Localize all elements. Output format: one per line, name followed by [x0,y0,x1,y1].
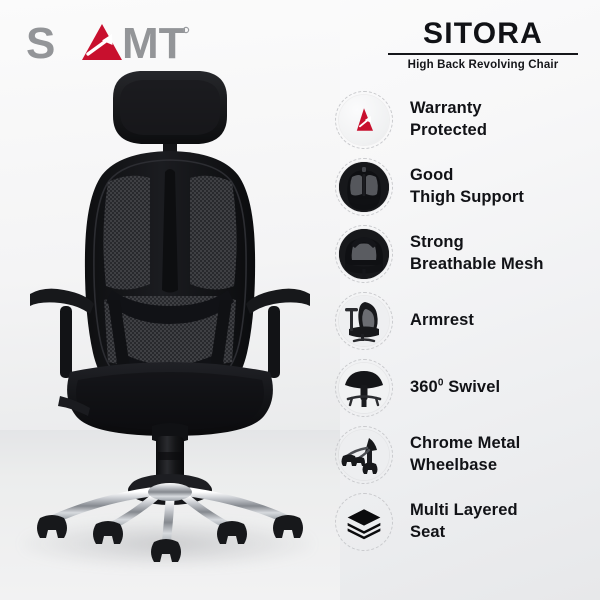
feature-label-line1: Multi Layered [410,501,518,519]
feature-label: Multi Layered Seat [410,500,518,542]
feature-icon-slot [334,90,394,150]
brand-logo: S MT [26,20,196,68]
feature-label-line1: 360 [410,378,438,396]
infographic-canvas: S MT SITORA High Back Revolving Chair [0,0,600,600]
feature-label-line1: Strong [410,233,464,251]
chair-back-front-icon [339,162,389,212]
feature-icon-slot [334,291,394,351]
svg-text:MT: MT [122,20,186,68]
feature-label: Strong Breathable Mesh [410,232,544,274]
feature-item-armrest: Armrest [334,287,600,354]
feature-item-multi-layered-seat: Multi Layered Seat [334,488,600,555]
feature-label-line2: Breathable Mesh [410,255,544,273]
product-subtitle: High Back Revolving Chair [388,59,578,71]
feature-label-line1: Armrest [410,311,474,329]
feature-icon-slot [334,492,394,552]
feature-label: 3600 Swivel [410,377,500,398]
feature-label: Armrest [410,310,474,331]
feature-item-chrome-metal-wheelbase: Chrome Metal Wheelbase [334,421,600,488]
feature-icon-slot [334,358,394,418]
feature-label: Warranty Protected [410,98,487,140]
samt-triangle-arrow-logo-icon: S MT [26,20,196,68]
feature-label-suffix: Swivel [444,378,501,396]
feature-label-line2: Wheelbase [410,456,497,474]
product-title-block: SITORA High Back Revolving Chair [388,18,578,71]
layers-stack-icon [339,497,389,547]
feature-label-line1: Warranty [410,99,482,117]
feature-list: Warranty Protected [334,86,600,555]
warranty-shield-logo-icon [339,95,389,145]
feature-label-line2: Thigh Support [410,188,524,206]
title-divider [388,53,578,55]
chrome-wheelbase-icon [339,430,389,480]
svg-text:S: S [26,20,55,68]
feature-label: Chrome Metal Wheelbase [410,433,520,475]
feature-label-line2: Seat [410,523,445,541]
feature-item-warranty-protected: Warranty Protected [334,86,600,153]
feature-icon-slot [334,157,394,217]
feature-label-line1: Chrome Metal [410,434,520,452]
feature-label-line1: Good [410,166,453,184]
feature-item-360-swivel: 3600 Swivel [334,354,600,421]
product-image-chair [0,0,340,600]
chair-side-armrest-icon [339,296,389,346]
feature-icon-slot [334,224,394,284]
feature-label: Good Thigh Support [410,165,524,207]
feature-icon-slot [334,425,394,485]
page-title: SITORA [388,18,578,50]
feature-item-good-thigh-support: Good Thigh Support [334,153,600,220]
mesh-chair-back-icon [339,229,389,279]
feature-label-line2: Protected [410,121,487,139]
swivel-seat-icon [339,363,389,413]
feature-item-strong-breathable-mesh: Strong Breathable Mesh [334,220,600,287]
